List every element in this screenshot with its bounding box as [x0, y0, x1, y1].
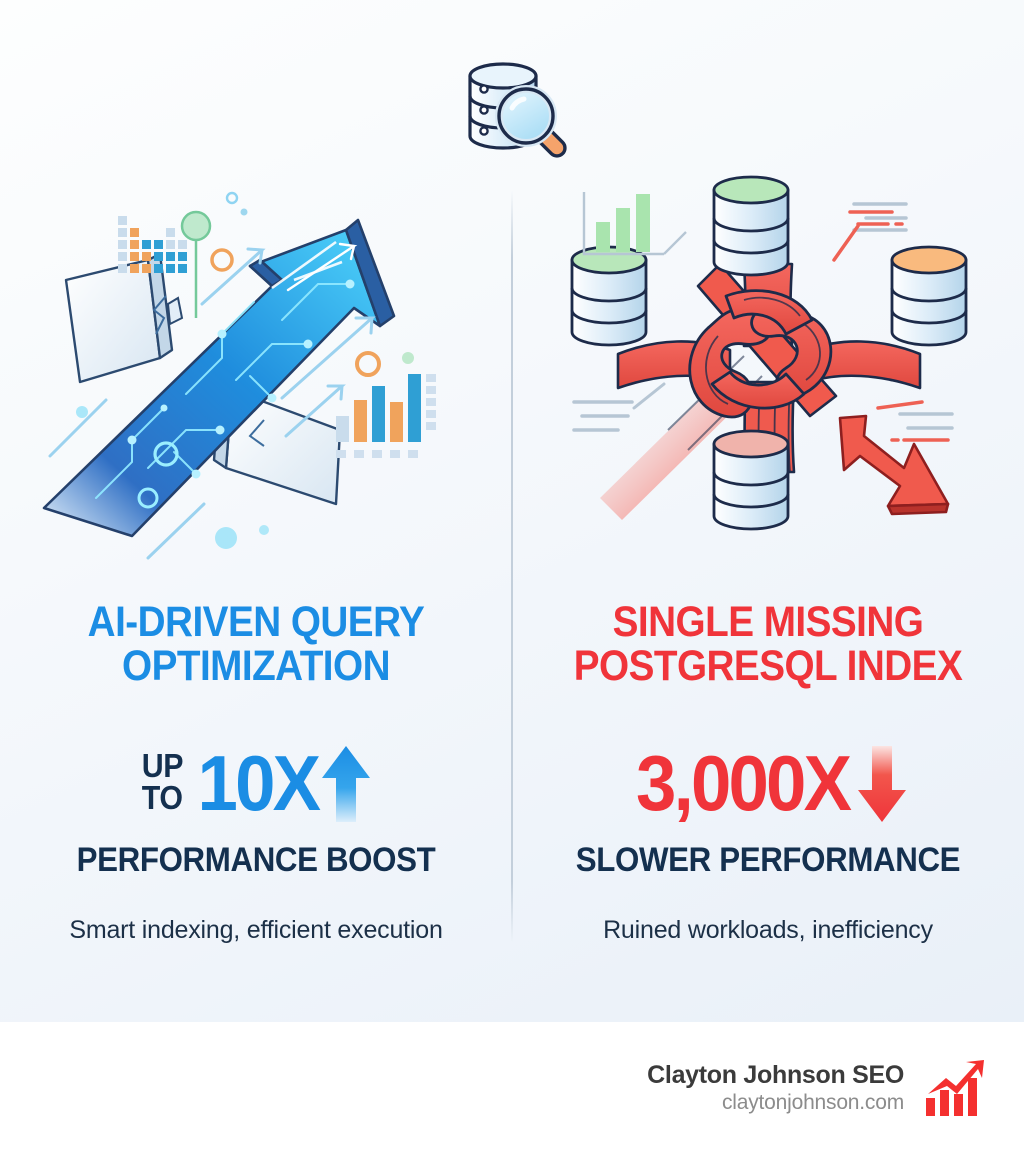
arrow-down-icon [856, 742, 908, 826]
footer-bar: Clayton Johnson SEO claytonjohnson.com [0, 1022, 1024, 1154]
right-caption: Ruined workloads, inefficiency [512, 916, 1024, 945]
brand-url[interactable]: claytonjohnson.com [647, 1091, 904, 1115]
right-stat-row: 3,000X [512, 741, 1024, 827]
left-column: AI-DRIVEN QUERY OPTIMIZATION UP TO 10X [0, 0, 512, 1022]
left-headline-line1: AI-DRIVEN QUERY [26, 600, 487, 644]
left-text-block: AI-DRIVEN QUERY OPTIMIZATION UP TO 10X [0, 600, 512, 945]
left-stat-row: UP TO 10X [0, 741, 512, 827]
right-text-block: SINGLE MISSING POSTGRESQL INDEX 3,000X S… [512, 600, 1024, 945]
left-headline-line2: OPTIMIZATION [26, 644, 487, 688]
left-stat-prefix: UP TO [141, 750, 182, 817]
left-stat-prefix-line1: UP [141, 750, 182, 782]
right-headline-line1: SINGLE MISSING [538, 600, 999, 644]
left-stat-prefix-line2: TO [141, 782, 182, 814]
left-subhead: PERFORMANCE BOOST [20, 841, 491, 880]
right-stat-value: 3,000X [636, 748, 849, 818]
circuit-arrow-breaking-wall-illustration [0, 168, 512, 578]
right-headline-line2: POSTGRESQL INDEX [538, 644, 999, 688]
brand-name: Clayton Johnson SEO [647, 1061, 904, 1090]
brand-text: Clayton Johnson SEO claytonjohnson.com [647, 1061, 904, 1115]
left-stat-value: 10X [197, 748, 318, 818]
growth-chart-logo-icon [922, 1058, 988, 1118]
left-caption: Smart indexing, efficient execution [0, 916, 512, 945]
tangled-databases-illustration [512, 168, 1024, 578]
right-subhead: SLOWER PERFORMANCE [532, 841, 1003, 880]
right-column: SINGLE MISSING POSTGRESQL INDEX 3,000X S… [512, 0, 1024, 1022]
infographic-panel: AI-DRIVEN QUERY OPTIMIZATION UP TO 10X [0, 0, 1024, 1022]
arrow-up-icon [320, 742, 372, 826]
